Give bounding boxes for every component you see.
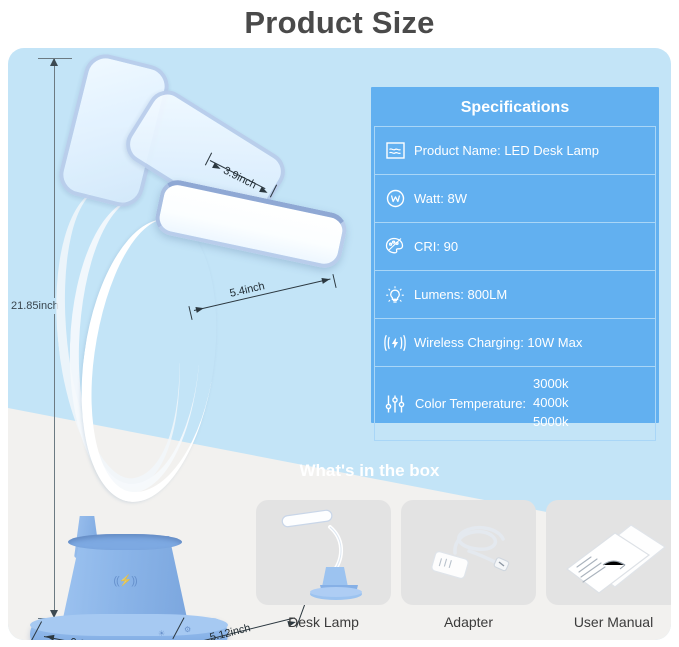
head-length-tick-end — [332, 274, 336, 288]
wireless-charging-icon — [383, 331, 407, 355]
specifications-panel: Specifications Product Name: LED Desk La… — [368, 84, 662, 426]
user-manual-card — [546, 500, 671, 605]
box-contents-list: Desk Lamp Adapter — [256, 500, 671, 630]
color-temperature-value-3: 5000k — [533, 413, 568, 432]
box-item-label-user-manual: User Manual — [574, 614, 653, 630]
spec-row-color-temperature: Color Temperature: 3000k 4000k 5000k — [375, 367, 655, 441]
height-dimension-label: 21.85inch — [10, 298, 60, 314]
height-arrow-top-icon — [50, 58, 58, 66]
head-length-arrow-end-icon — [321, 276, 330, 284]
box-item-label-desk-lamp: Desk Lamp — [288, 614, 359, 630]
adapter-card — [401, 500, 536, 605]
pen-holder-opening — [68, 534, 182, 550]
lamp-base-tray-surface — [30, 614, 228, 636]
spec-row-product-name: Product Name: LED Desk Lamp — [375, 127, 655, 175]
height-dimension-line — [54, 58, 55, 618]
adapter-cable-illustration — [409, 507, 529, 599]
spec-label-color-temperature: Color Temperature: — [415, 396, 526, 411]
wireless-charging-symbol-icon: ((⚡)) — [108, 573, 142, 587]
product-name-icon — [383, 139, 407, 163]
slider-icon — [383, 392, 407, 416]
spec-label-product-name: Product Name: LED Desk Lamp — [414, 143, 599, 158]
height-tick-top — [38, 58, 72, 59]
spec-label-cri: CRI: 90 — [414, 239, 458, 254]
color-temperature-values: 3000k 4000k 5000k — [533, 375, 568, 432]
infographic-canvas: 21.85inch 3.9inch 5.4inch ((⚡)) ☀ ⚙ — [8, 48, 671, 640]
spec-row-wireless-charging: Wireless Charging: 10W Max — [375, 319, 655, 367]
lightbulb-lumens-icon — [383, 283, 407, 307]
desk-lamp-card — [256, 500, 391, 605]
cri-palette-icon — [383, 235, 407, 259]
page-title: Product Size — [0, 0, 679, 46]
spec-label-watt: Watt: 8W — [414, 191, 467, 206]
desk-lamp-illustration — [264, 505, 384, 601]
color-temperature-value-1: 3000k — [533, 375, 568, 394]
watt-icon — [383, 187, 407, 211]
box-item-adapter: Adapter — [401, 500, 536, 630]
spec-row-watt: Watt: 8W — [375, 175, 655, 223]
spec-label-lumens: Lumens: 800LM — [414, 287, 507, 302]
touch-control-brightness-icon: ☀ — [158, 629, 165, 638]
box-item-label-adapter: Adapter — [444, 614, 493, 630]
specifications-list: Product Name: LED Desk Lamp Watt: 8W — [374, 126, 656, 441]
box-contents-heading: What's in the box — [8, 461, 671, 481]
spec-label-wireless-charging: Wireless Charging: 10W Max — [414, 335, 582, 350]
box-item-user-manual: User Manual — [546, 500, 671, 630]
color-temperature-value-2: 4000k — [533, 394, 568, 413]
user-manual-illustration — [553, 507, 672, 599]
box-item-desk-lamp: Desk Lamp — [256, 500, 391, 630]
spec-row-lumens: Lumens: 800LM — [375, 271, 655, 319]
touch-control-power-icon: ⚙ — [184, 625, 191, 634]
spec-row-cri: CRI: 90 — [375, 223, 655, 271]
specifications-heading: Specifications — [374, 90, 656, 126]
base-depth-arrow-start-icon — [46, 633, 55, 640]
